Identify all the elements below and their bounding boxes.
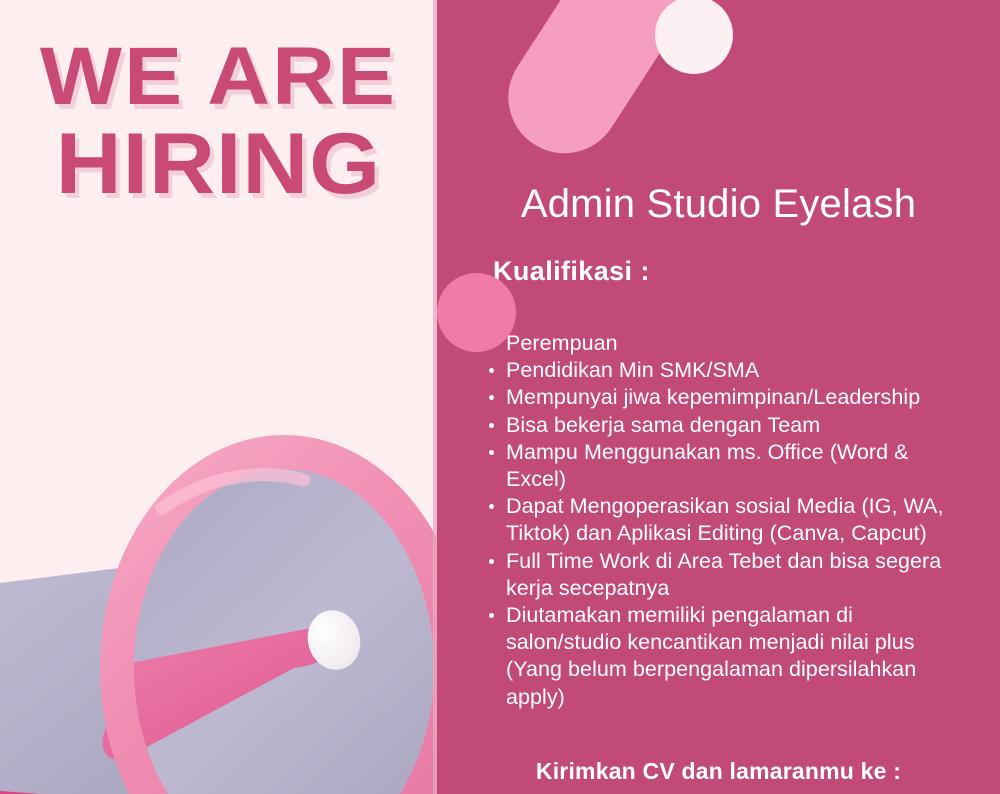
- list-item: Bisa bekerja sama dengan Team: [485, 412, 965, 439]
- hiring-poster: WE ARE HIRING: [0, 0, 1000, 794]
- list-item: Mampu Menggunakan ms. Office (Word & Exc…: [485, 439, 965, 493]
- headline: WE ARE HIRING: [0, 0, 437, 206]
- megaphone-icon: [0, 236, 437, 794]
- left-panel: WE ARE HIRING: [0, 0, 437, 794]
- job-title: Admin Studio Eyelash: [437, 182, 1000, 227]
- qualifications-heading: Kualifikasi :: [493, 256, 650, 287]
- list-item: Dapat Mengoperasikan sosial Media (IG, W…: [485, 493, 965, 547]
- call-to-action-text: Kirimkan CV dan lamaranmu ke :: [437, 758, 1000, 785]
- list-item: Full Time Work di Area Tebet dan bisa se…: [485, 548, 965, 602]
- list-item: Diutamakan memiliki pengalaman di salon/…: [485, 602, 965, 711]
- headline-line-two: HIRING: [0, 124, 437, 206]
- headline-line-one: WE ARE: [0, 38, 437, 116]
- decorative-circle-white: [655, 0, 733, 74]
- right-panel: Admin Studio Eyelash Kualifikasi : Perem…: [437, 0, 1000, 794]
- list-item: Perempuan: [485, 330, 965, 357]
- list-item: Mempunyai jiwa kepemimpinan/Leadership: [485, 384, 965, 411]
- megaphone-illustration: [0, 236, 437, 794]
- decorative-circle-pink: [437, 273, 516, 352]
- list-item: Pendidikan Min SMK/SMA: [485, 357, 965, 384]
- qualifications-list: Perempuan Pendidikan Min SMK/SMA Mempuny…: [485, 330, 965, 711]
